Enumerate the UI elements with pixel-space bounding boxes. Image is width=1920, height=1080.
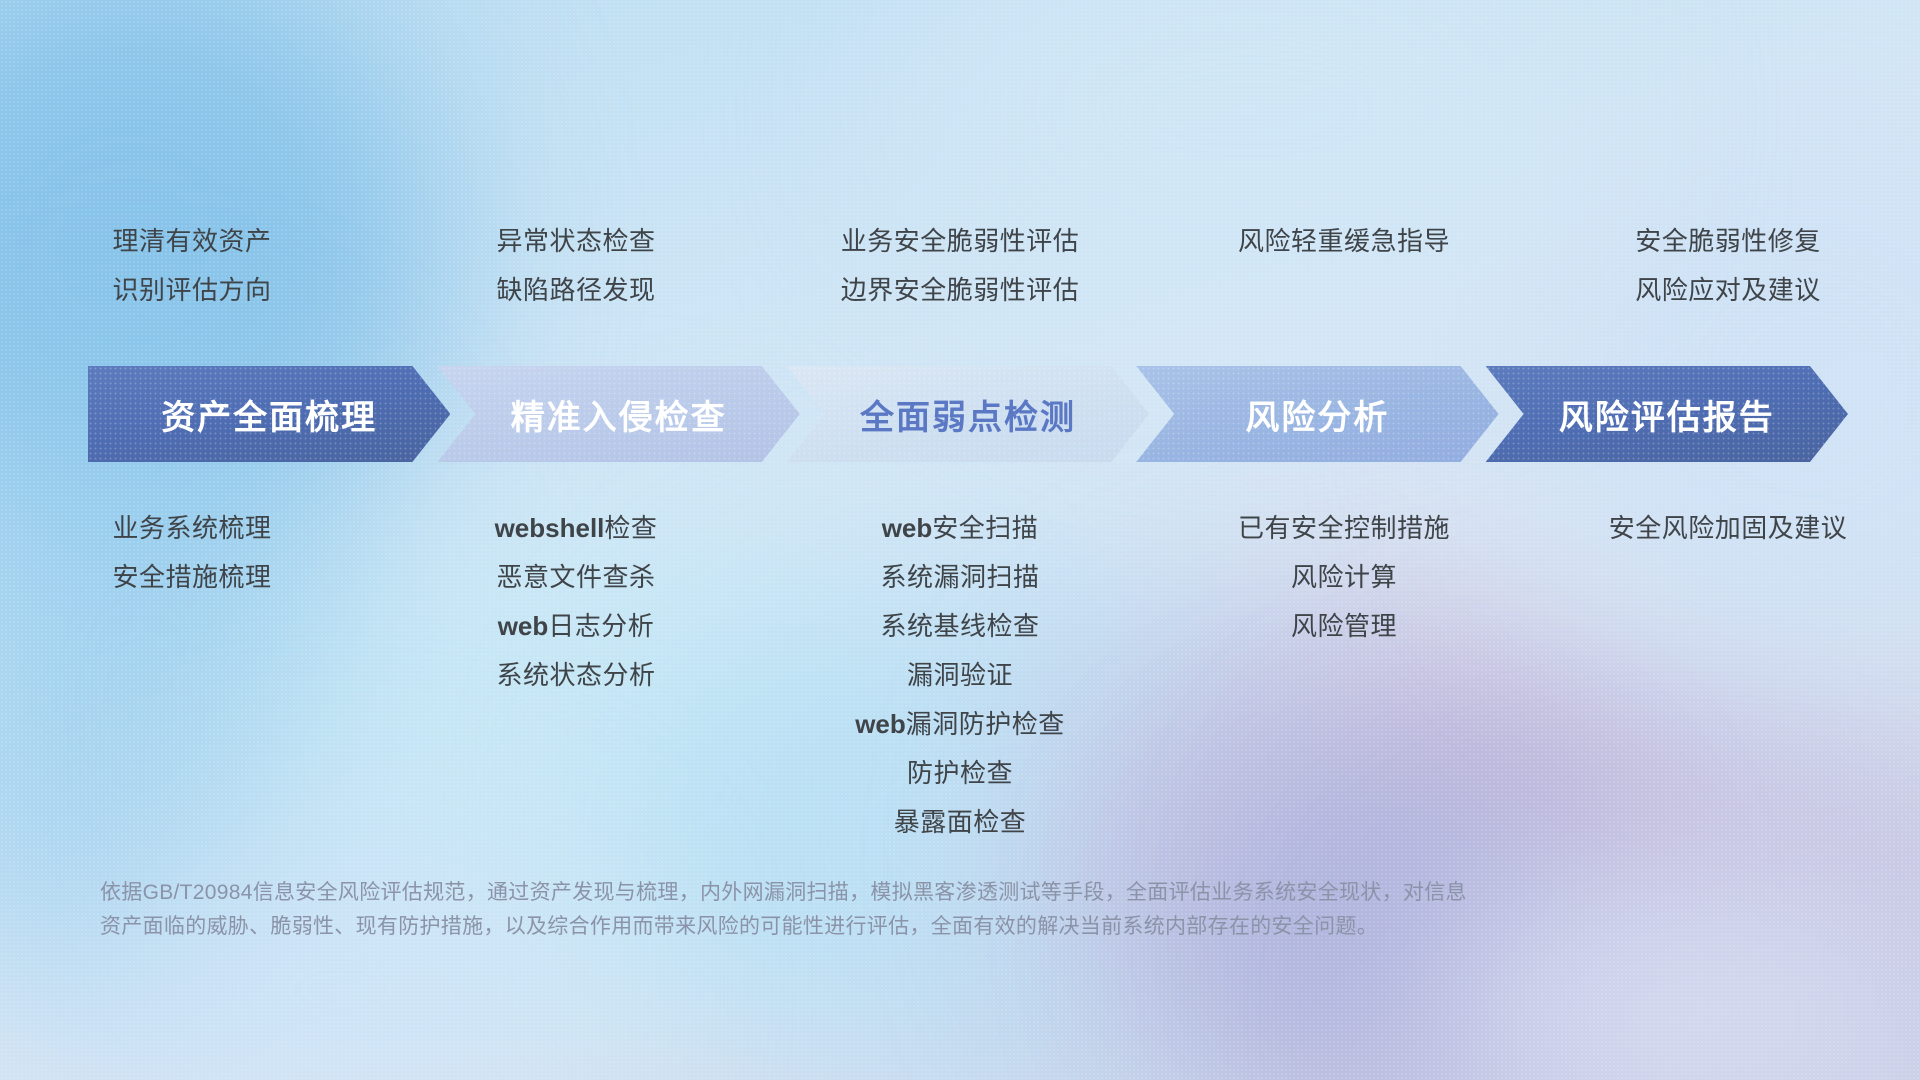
cn-token: 安全措施梳理 — [112, 562, 271, 592]
stage-5-top-item: 安全脆弱性修复 — [1635, 228, 1821, 254]
infographic: 理清有效资产识别评估方向异常状态检查缺陷路径发现业务安全脆弱性评估边界安全脆弱性… — [0, 0, 1920, 1080]
stage-1-top-item: 识别评估方向 — [112, 277, 271, 303]
stage-3-bottom-item: 防护检查 — [907, 760, 1013, 786]
cn-token: 日志分析 — [548, 611, 654, 641]
stage-2-bottom-item: webshell检查 — [495, 515, 658, 541]
stage-1-title: 资产全面梳理 — [161, 390, 377, 439]
stage-3-top-labels: 业务安全脆弱性评估边界安全脆弱性评估 — [768, 228, 1152, 326]
stage-2-top-item: 异常状态检查 — [496, 228, 655, 254]
stage-3-bottom-item: web漏洞防护检查 — [855, 711, 1065, 737]
stage-5-bottom-item: 安全风险加固及建议 — [1609, 515, 1848, 541]
cn-token: 暴露面检查 — [894, 807, 1027, 837]
cn-token: 漏洞防护检查 — [906, 709, 1065, 739]
stage-1-bottom-item: 安全措施梳理 — [112, 564, 271, 590]
top-labels-row: 理清有效资产识别评估方向异常状态检查缺陷路径发现业务安全脆弱性评估边界安全脆弱性… — [0, 228, 1920, 326]
stage-2-title: 精准入侵检查 — [511, 390, 727, 439]
cn-token: 检查 — [604, 513, 657, 543]
stage-3-bottom-item: web安全扫描 — [882, 515, 1039, 541]
stage-2-bottom-item: web日志分析 — [498, 613, 655, 639]
stage-3-bottom-item: 系统漏洞扫描 — [880, 564, 1039, 590]
stage-2-arrow[interactable]: 精准入侵检查 — [437, 366, 799, 462]
bottom-labels-row: 业务系统梳理安全措施梳理webshell检查恶意文件查杀web日志分析系统状态分… — [0, 515, 1920, 858]
stage-5-top-labels: 安全脆弱性修复风险应对及建议 — [1536, 228, 1920, 326]
stage-3-arrow[interactable]: 全面弱点检测 — [787, 366, 1149, 462]
stage-4-bottom-item: 已有安全控制措施 — [1238, 515, 1450, 541]
stage-4-arrow[interactable]: 风险分析 — [1136, 366, 1498, 462]
cn-token: 风险计算 — [1291, 562, 1397, 592]
stage-3-top-item: 边界安全脆弱性评估 — [841, 277, 1080, 303]
stage-arrow-band: 资产全面梳理精准入侵检查全面弱点检测风险分析风险评估报告 — [88, 366, 1848, 462]
latin-token: web — [882, 513, 933, 543]
stage-1-bottom-labels: 业务系统梳理安全措施梳理 — [0, 515, 384, 858]
stage-4-top-labels: 风险轻重缓急指导 — [1152, 228, 1536, 326]
cn-token: 系统基线检查 — [880, 611, 1039, 641]
stage-1-top-item: 理清有效资产 — [112, 228, 271, 254]
cn-token: 恶意文件查杀 — [496, 562, 655, 592]
stage-3-bottom-item: 漏洞验证 — [907, 662, 1013, 688]
latin-token: web — [498, 611, 549, 641]
cn-token: 安全风险加固及建议 — [1609, 513, 1848, 543]
cn-token: 安全扫描 — [932, 513, 1038, 543]
stage-5-title: 风险评估报告 — [1559, 390, 1775, 439]
cn-token: 漏洞验证 — [907, 660, 1013, 690]
cn-token: 业务系统梳理 — [112, 513, 271, 543]
cn-token: 防护检查 — [907, 758, 1013, 788]
cn-token: 风险管理 — [1291, 611, 1397, 641]
stage-3-title: 全面弱点检测 — [860, 390, 1076, 439]
stage-3-bottom-item: 系统基线检查 — [880, 613, 1039, 639]
footer-description: 依据GB/T20984信息安全风险评估规范，通过资产发现与梳理，内外网漏洞扫描，… — [100, 876, 1660, 944]
latin-token: web — [855, 709, 906, 739]
stage-3-bottom-labels: web安全扫描系统漏洞扫描系统基线检查漏洞验证web漏洞防护检查防护检查暴露面检… — [768, 515, 1152, 858]
latin-token: webshell — [495, 513, 605, 543]
cn-token: 系统漏洞扫描 — [880, 562, 1039, 592]
stage-1-arrow[interactable]: 资产全面梳理 — [88, 366, 450, 462]
footer-line-2: 资产面临的威胁、脆弱性、现有防护措施，以及综合作用而带来风险的可能性进行评估，全… — [100, 910, 1660, 944]
stage-1-bottom-item: 业务系统梳理 — [112, 515, 271, 541]
stage-2-top-labels: 异常状态检查缺陷路径发现 — [384, 228, 768, 326]
stage-2-bottom-item: 系统状态分析 — [496, 662, 655, 688]
cn-token: 已有安全控制措施 — [1238, 513, 1450, 543]
stage-5-bottom-labels: 安全风险加固及建议 — [1536, 515, 1920, 858]
stage-4-bottom-item: 风险计算 — [1291, 564, 1397, 590]
stage-4-title: 风险分析 — [1245, 390, 1389, 439]
stage-2-bottom-labels: webshell检查恶意文件查杀web日志分析系统状态分析 — [384, 515, 768, 858]
stage-5-top-item: 风险应对及建议 — [1635, 277, 1821, 303]
stage-3-top-item: 业务安全脆弱性评估 — [841, 228, 1080, 254]
footer-line-1: 依据GB/T20984信息安全风险评估规范，通过资产发现与梳理，内外网漏洞扫描，… — [100, 876, 1660, 910]
stage-4-bottom-labels: 已有安全控制措施风险计算风险管理 — [1152, 515, 1536, 858]
stage-2-top-item: 缺陷路径发现 — [496, 277, 655, 303]
stage-5-arrow[interactable]: 风险评估报告 — [1486, 366, 1848, 462]
stage-4-bottom-item: 风险管理 — [1291, 613, 1397, 639]
stage-4-top-item: 风险轻重缓急指导 — [1238, 228, 1450, 254]
cn-token: 系统状态分析 — [496, 660, 655, 690]
stage-1-top-labels: 理清有效资产识别评估方向 — [0, 228, 384, 326]
stage-2-bottom-item: 恶意文件查杀 — [496, 564, 655, 590]
stage-3-bottom-item: 暴露面检查 — [894, 809, 1027, 835]
